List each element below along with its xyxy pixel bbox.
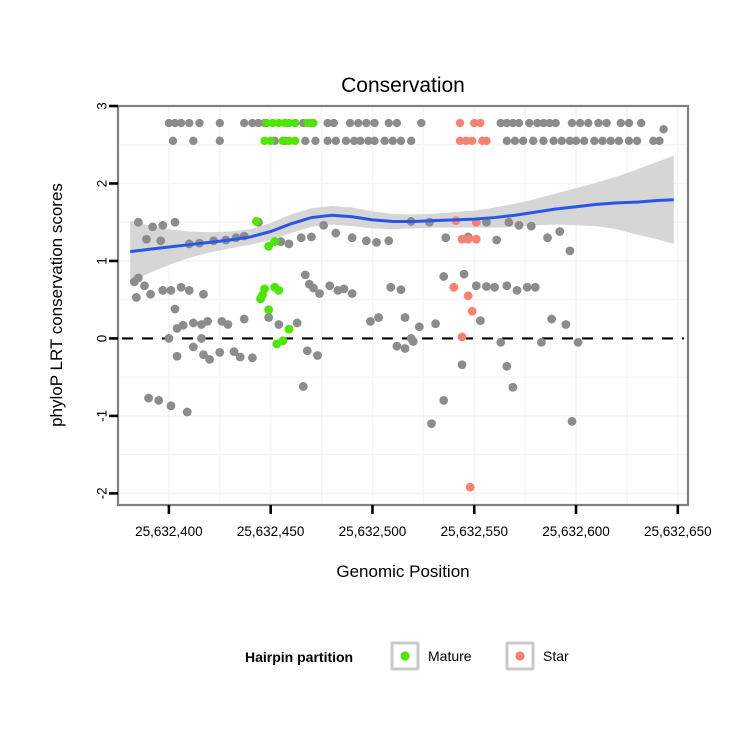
data-point-other — [401, 344, 410, 353]
panel-background — [118, 106, 688, 505]
data-point-other — [503, 137, 511, 145]
data-point-other — [551, 119, 559, 127]
data-point-other — [472, 281, 481, 290]
data-point-other — [356, 137, 364, 145]
data-point-other — [134, 274, 143, 283]
data-point-other — [555, 227, 564, 236]
data-point-other — [348, 289, 357, 298]
data-point-other — [606, 137, 614, 145]
x-tick-label: 25,632,600 — [542, 524, 610, 539]
x-tick-label: 25,632,650 — [644, 524, 712, 539]
data-point-other — [529, 137, 537, 145]
data-point-other — [561, 320, 570, 329]
x-tick-label: 25,632,550 — [440, 524, 508, 539]
data-point-other — [366, 317, 375, 326]
data-point-other — [274, 320, 283, 329]
data-point-star — [468, 137, 476, 145]
data-point-other — [293, 319, 302, 328]
data-point-other — [158, 286, 167, 295]
data-point-other — [301, 271, 310, 280]
data-point-other — [525, 119, 533, 127]
data-point-star — [468, 307, 477, 316]
data-point-other — [490, 283, 499, 292]
y-tick-label: -1 — [95, 410, 110, 422]
data-point-other — [590, 137, 598, 145]
data-point-other — [460, 270, 469, 279]
data-point-other — [240, 315, 249, 324]
data-point-other — [134, 218, 143, 227]
data-point-other — [169, 137, 177, 145]
data-point-other — [574, 338, 583, 347]
y-tick-label: -2 — [95, 487, 110, 499]
data-point-other — [397, 137, 405, 145]
legend-swatch-star — [515, 651, 524, 660]
data-point-mature — [264, 305, 273, 314]
data-point-other — [637, 119, 645, 127]
data-point-mature — [256, 295, 265, 304]
data-point-other — [431, 319, 440, 328]
data-point-other — [543, 233, 552, 242]
data-point-other — [185, 119, 193, 127]
data-point-other — [264, 313, 273, 322]
data-point-other — [189, 137, 197, 145]
y-tick-label: 1 — [95, 257, 110, 265]
data-point-other — [519, 137, 527, 145]
data-point-other — [297, 233, 306, 242]
y-tick-label: 3 — [95, 102, 110, 110]
data-point-mature — [270, 237, 279, 246]
data-point-other — [549, 137, 557, 145]
data-point-star — [482, 137, 490, 145]
data-point-other — [523, 283, 532, 292]
data-point-star — [476, 119, 484, 127]
data-point-other — [167, 286, 176, 295]
data-point-other — [203, 317, 212, 326]
data-point-other — [515, 119, 523, 127]
data-point-other — [370, 119, 378, 127]
data-point-other — [572, 137, 580, 145]
data-point-other — [441, 233, 450, 242]
data-point-other — [527, 222, 536, 231]
data-point-other — [531, 283, 540, 292]
data-point-star — [449, 283, 458, 292]
data-point-other — [248, 353, 257, 362]
y-tick-label: 0 — [95, 335, 110, 343]
data-point-other — [401, 313, 410, 322]
data-point-other — [325, 281, 334, 290]
data-point-mature — [274, 286, 283, 295]
data-point-other — [502, 362, 511, 371]
data-point-other — [496, 338, 505, 347]
data-point-star — [464, 291, 473, 300]
data-point-other — [584, 119, 592, 127]
data-point-other — [301, 137, 309, 145]
data-point-other — [558, 137, 566, 145]
data-point-other — [331, 229, 340, 238]
data-point-other — [216, 119, 224, 127]
plot-panel — [118, 106, 688, 505]
data-point-other — [197, 334, 206, 343]
data-point-other — [216, 137, 224, 145]
data-point-other — [380, 137, 388, 145]
data-point-other — [173, 352, 182, 361]
data-point-other — [625, 119, 633, 127]
data-point-other — [189, 343, 198, 352]
data-point-other — [397, 285, 406, 294]
data-point-other — [199, 290, 208, 299]
data-point-other — [154, 396, 163, 405]
data-point-mature — [285, 325, 294, 334]
data-point-other — [384, 236, 393, 245]
data-point-other — [392, 342, 401, 351]
data-point-other — [547, 315, 556, 324]
data-point-other — [372, 238, 381, 247]
data-point-other — [415, 322, 424, 331]
x-axis-title: Genomic Position — [336, 562, 469, 581]
data-point-other — [164, 334, 173, 343]
data-point-other — [389, 137, 397, 145]
data-point-star — [472, 235, 481, 244]
legend-title: Hairpin partition — [245, 649, 353, 665]
data-point-other — [330, 119, 338, 127]
data-point-other — [342, 137, 350, 145]
x-tick-label: 25,632,450 — [237, 524, 305, 539]
legend-swatch-mature — [400, 651, 409, 660]
data-point-other — [156, 236, 165, 245]
data-point-other — [142, 235, 151, 244]
data-point-other — [393, 119, 401, 127]
data-point-other — [323, 137, 331, 145]
data-point-mature — [252, 217, 261, 226]
data-point-other — [407, 137, 415, 145]
data-point-mature — [291, 119, 299, 127]
data-point-mature — [291, 137, 299, 145]
x-tick-label: 25,632,500 — [339, 524, 407, 539]
data-point-other — [195, 119, 203, 127]
data-point-other — [146, 290, 155, 299]
data-point-other — [598, 137, 606, 145]
y-tick-label: 2 — [95, 180, 110, 188]
data-point-other — [615, 137, 623, 145]
data-point-other — [183, 408, 192, 417]
data-point-mature — [278, 336, 287, 345]
data-point-other — [482, 282, 491, 291]
data-point-other — [439, 396, 448, 405]
y-axis-title: phyloP LRT conservation scores — [47, 183, 66, 427]
data-point-other — [427, 419, 436, 428]
x-tick-label: 25,632,400 — [135, 524, 203, 539]
data-point-other — [140, 281, 149, 290]
data-point-other — [236, 353, 245, 362]
data-point-other — [633, 137, 641, 145]
data-point-other — [568, 417, 577, 426]
data-point-other — [177, 119, 185, 127]
data-point-other — [354, 119, 362, 127]
data-point-other — [439, 272, 448, 281]
data-point-star — [458, 332, 467, 341]
data-point-other — [171, 218, 180, 227]
data-point-other — [167, 401, 176, 410]
data-point-other — [224, 320, 233, 329]
data-point-other — [409, 337, 418, 346]
data-point-mature — [309, 119, 317, 127]
data-point-other — [346, 119, 354, 127]
data-point-other — [171, 305, 180, 314]
data-point-other — [417, 119, 425, 127]
data-point-other — [370, 137, 378, 145]
data-point-other — [504, 218, 513, 227]
data-point-other — [215, 348, 224, 357]
data-point-other — [515, 221, 524, 230]
data-point-other — [537, 338, 546, 347]
data-point-other — [315, 289, 324, 298]
data-point-other — [655, 137, 663, 145]
data-point-other — [576, 119, 584, 127]
data-point-other — [509, 383, 518, 392]
data-point-other — [374, 313, 383, 322]
data-point-other — [148, 222, 157, 231]
data-point-other — [513, 286, 522, 295]
data-point-other — [568, 119, 576, 127]
data-point-other — [303, 346, 312, 355]
data-point-other — [659, 125, 667, 133]
data-point-star — [464, 235, 473, 244]
data-point-other — [602, 119, 610, 127]
data-point-other — [205, 355, 214, 364]
data-point-other — [185, 286, 194, 295]
data-point-other — [625, 137, 633, 145]
legend-label-mature: Mature — [428, 648, 472, 664]
data-point-other — [348, 233, 357, 242]
data-point-other — [539, 137, 547, 145]
data-point-other — [385, 119, 393, 127]
data-point-other — [132, 293, 141, 302]
data-point-other — [313, 351, 322, 360]
data-point-other — [158, 221, 167, 230]
data-point-mature — [266, 137, 274, 145]
data-point-other — [319, 221, 328, 230]
data-point-other — [179, 321, 188, 330]
data-point-other — [299, 382, 308, 391]
conservation-scatter-plot: Conservation -2-10123 25,632,40025,632,4… — [0, 0, 750, 750]
data-point-other — [240, 119, 248, 127]
data-point-other — [362, 236, 371, 245]
data-point-other — [502, 281, 511, 290]
data-point-other — [458, 360, 467, 369]
page-title: Conservation — [341, 74, 465, 97]
legend-label-star: Star — [543, 648, 569, 664]
data-point-other — [311, 137, 319, 145]
data-point-other — [511, 137, 519, 145]
data-point-other — [177, 283, 186, 292]
data-point-other — [566, 246, 575, 255]
data-point-star — [466, 483, 475, 492]
data-point-other — [580, 137, 588, 145]
data-point-star — [456, 119, 464, 127]
data-point-other — [617, 119, 625, 127]
data-point-other — [594, 119, 602, 127]
data-point-other — [340, 284, 349, 293]
conservation-chart-figure: Conservation -2-10123 25,632,40025,632,4… — [0, 0, 750, 750]
data-point-other — [189, 319, 198, 328]
data-point-other — [492, 236, 501, 245]
data-point-other — [332, 137, 340, 145]
data-point-other — [285, 240, 294, 249]
data-point-other — [386, 283, 395, 292]
data-point-other — [362, 119, 370, 127]
data-point-other — [476, 316, 485, 325]
data-point-other — [307, 233, 316, 242]
data-point-other — [144, 394, 153, 403]
